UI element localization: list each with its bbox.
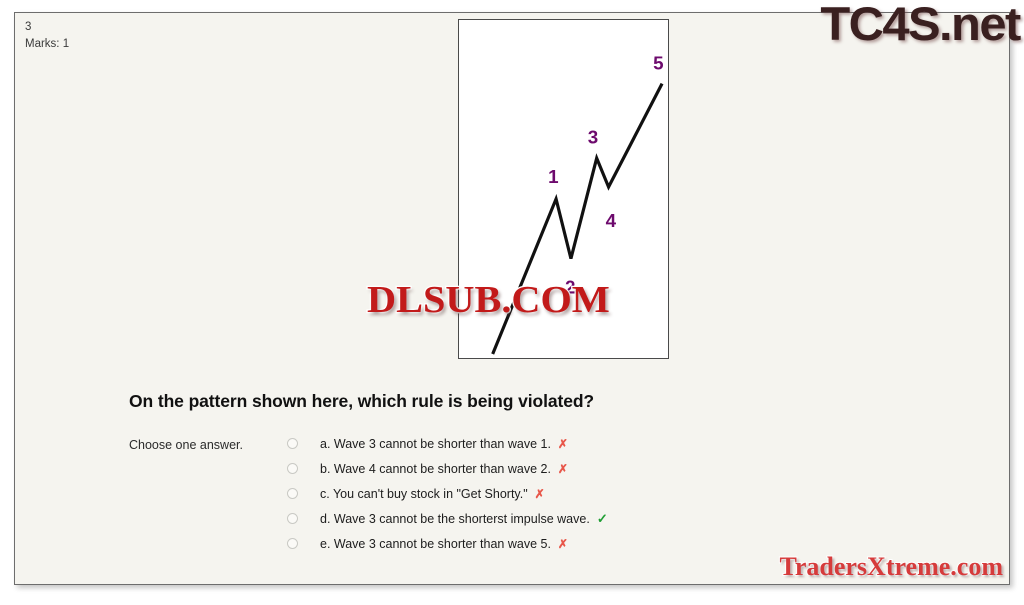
answer-options-list: a. Wave 3 cannot be shorter than wave 1.… xyxy=(287,431,927,556)
answer-label-d: d. Wave 3 cannot be the shorterst impuls… xyxy=(320,512,590,526)
radio-button-d[interactable] xyxy=(287,513,298,524)
wave-label-5: 5 xyxy=(653,53,663,74)
cross-icon-e: ✗ xyxy=(558,537,568,551)
answer-label-b: b. Wave 4 cannot be shorter than wave 2. xyxy=(320,462,551,476)
watermark-dlsub-text: DLSUB.COM xyxy=(367,279,610,321)
wave-label-4: 4 xyxy=(606,210,617,231)
answer-label-a: a. Wave 3 cannot be shorter than wave 1. xyxy=(320,437,551,451)
check-icon-d: ✓ xyxy=(597,511,608,527)
answer-label-c: c. You can't buy stock in "Get Shorty." xyxy=(320,487,528,501)
radio-button-b[interactable] xyxy=(287,463,298,474)
question-number: 3 xyxy=(25,19,69,36)
watermark-tradersxtreme: TradersXtreme.com xyxy=(779,552,1003,582)
answer-option-d[interactable]: d. Wave 3 cannot be the shorterst impuls… xyxy=(287,506,927,531)
cross-icon-c: ✗ xyxy=(535,487,545,501)
answer-label-e: e. Wave 3 cannot be shorter than wave 5. xyxy=(320,537,551,551)
wave-label-3: 3 xyxy=(588,126,598,147)
answer-option-b[interactable]: b. Wave 4 cannot be shorter than wave 2.… xyxy=(287,456,927,481)
question-marks: Marks: 1 xyxy=(25,36,69,53)
wave-label-1: 1 xyxy=(548,166,558,187)
page-root: 3 Marks: 1 1 2 3 4 5 On the pattern show… xyxy=(0,0,1024,605)
answer-option-c[interactable]: c. You can't buy stock in "Get Shorty." … xyxy=(287,481,927,506)
radio-button-a[interactable] xyxy=(287,438,298,449)
watermark-dlsub: DLSUB.COM xyxy=(367,279,610,321)
radio-button-e[interactable] xyxy=(287,538,298,549)
cross-icon-b: ✗ xyxy=(558,462,568,476)
watermark-tc4s: TC4S.net xyxy=(821,0,1020,50)
radio-button-c[interactable] xyxy=(287,488,298,499)
page-title: On the pattern shown here, which rule is… xyxy=(129,391,594,412)
answer-option-a[interactable]: a. Wave 3 cannot be shorter than wave 1.… xyxy=(287,431,927,456)
cross-icon-a: ✗ xyxy=(558,437,568,451)
choose-one-answer-label: Choose one answer. xyxy=(129,438,243,452)
question-meta: 3 Marks: 1 xyxy=(25,19,69,53)
